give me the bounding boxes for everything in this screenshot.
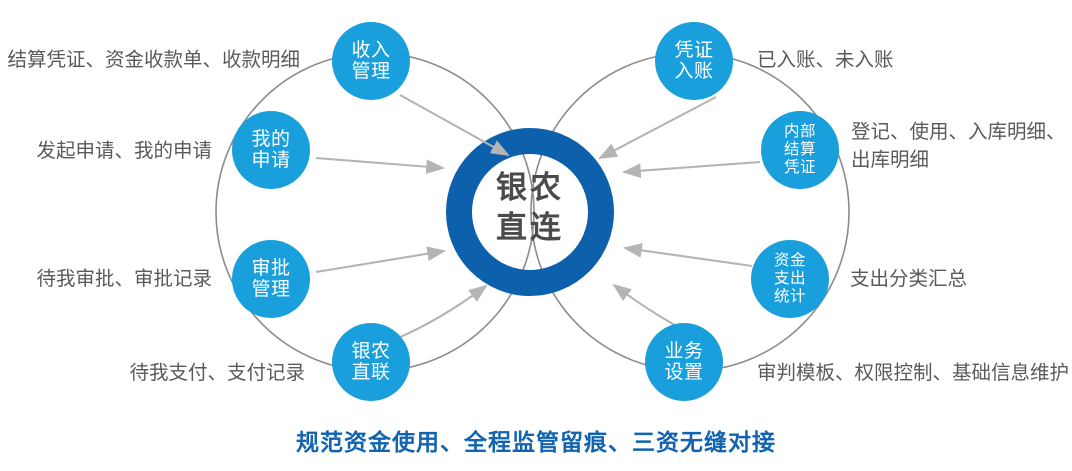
node-bank-direct[interactable]: 银农 直联 xyxy=(332,323,410,401)
node-bank-direct-line1: 银农 xyxy=(351,341,390,362)
node-business-settings-line1: 业务 xyxy=(664,341,703,362)
node-voucher-entry-line2: 入账 xyxy=(674,61,713,82)
node-income-line2: 管理 xyxy=(351,61,390,82)
arrow-internal-settlement xyxy=(624,162,760,172)
caption: 规范资金使用、全程监管留痕、三资无缝对接 xyxy=(0,423,1072,457)
desc-income: 结算凭证、资金收款单、收款明细 xyxy=(0,46,300,74)
center-label-line1: 银农 xyxy=(446,168,614,208)
desc-bank-direct: 待我支付、支付记录 xyxy=(0,359,305,387)
desc-business-settings: 审判模板、权限控制、基础信息维护 xyxy=(757,359,1069,387)
arrow-voucher-entry xyxy=(600,97,716,158)
node-voucher-entry[interactable]: 凭证 入账 xyxy=(655,22,733,100)
node-expense-stats-line1: 资金 xyxy=(774,252,806,270)
node-approval-line1: 审批 xyxy=(251,258,290,279)
node-internal-settlement-line3: 凭证 xyxy=(784,159,816,177)
node-internal-settlement-line1: 内部 xyxy=(784,123,816,141)
node-approval[interactable]: 审批 管理 xyxy=(232,240,310,318)
center-label-line2: 直连 xyxy=(446,208,614,248)
desc-expense-stats: 支出分类汇总 xyxy=(850,265,967,293)
desc-approval: 待我审批、审批记录 xyxy=(0,265,212,293)
node-my-request[interactable]: 我的 申请 xyxy=(232,111,310,189)
node-internal-settlement[interactable]: 内部 结算 凭证 xyxy=(761,111,839,189)
node-income-line1: 收入 xyxy=(351,40,390,61)
arrow-expense-stats xyxy=(625,248,752,266)
desc-voucher-entry: 已入账、未入账 xyxy=(757,46,894,74)
node-expense-stats-line2: 支出 xyxy=(774,270,806,288)
node-business-settings[interactable]: 业务 设置 xyxy=(645,323,723,401)
node-approval-line2: 管理 xyxy=(251,279,290,300)
arrow-my-request xyxy=(316,158,443,168)
node-internal-settlement-line2: 结算 xyxy=(784,141,816,159)
node-my-request-line2: 申请 xyxy=(251,150,290,171)
node-expense-stats[interactable]: 资金 支出 统计 xyxy=(751,240,829,318)
node-expense-stats-line3: 统计 xyxy=(774,288,806,306)
desc-internal-settlement: 登记、使用、入库明细、 出库明细 xyxy=(851,118,1072,175)
node-bank-direct-line2: 直联 xyxy=(351,362,390,383)
arrow-bank-direct xyxy=(398,286,486,338)
desc-my-request: 发起申请、我的申请 xyxy=(0,137,212,165)
node-voucher-entry-line1: 凭证 xyxy=(674,40,713,61)
diagram-canvas: 银农 直连 收入 管理 我的 申请 审批 管理 银农 直联 凭证 入账 内部 结… xyxy=(0,0,1072,471)
node-my-request-line1: 我的 xyxy=(251,129,290,150)
arrow-approval xyxy=(316,251,444,272)
center-label: 银农 直连 xyxy=(446,168,614,247)
node-business-settings-line2: 设置 xyxy=(664,362,703,383)
node-income[interactable]: 收入 管理 xyxy=(332,22,410,100)
